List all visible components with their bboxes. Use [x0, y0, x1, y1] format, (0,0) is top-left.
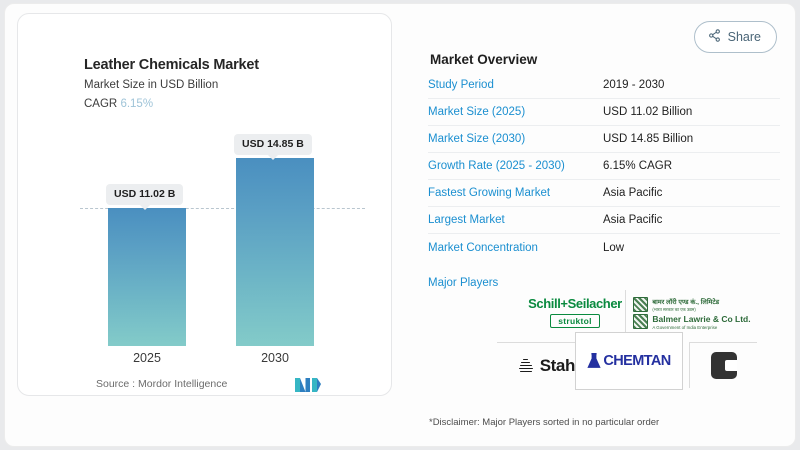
mordor-intelligence-logo — [295, 376, 321, 397]
x-tick-2025: 2025 — [108, 351, 186, 365]
disclaimer-text: *Disclaimer: Major Players sorted in no … — [429, 417, 659, 428]
row-label: Growth Rate (2025 - 2030) — [428, 160, 603, 172]
major-players-label: Major Players — [428, 277, 498, 289]
row-label: Fastest Growing Market — [428, 187, 603, 199]
data-label-2025: USD 11.02 B — [106, 184, 183, 205]
table-row: Market Size (2030) USD 14.85 Billion — [428, 126, 780, 153]
bar-chart-plot: USD 11.02 B USD 14.85 B 2025 2030 — [18, 14, 393, 397]
row-value: Asia Pacific — [603, 187, 662, 199]
bar-2025 — [108, 208, 186, 346]
logo-schill-seilacher: Schill+Seilacher struktol — [519, 290, 631, 334]
row-label: Market Concentration — [428, 242, 603, 254]
c-block-icon — [711, 352, 737, 379]
chemtan-name: CHEMTAN — [603, 353, 670, 369]
major-players-logos: Schill+Seilacher struktol बामर लॉरी एण्ड… — [497, 290, 757, 390]
row-value: USD 14.85 Billion — [603, 133, 693, 145]
bar-2030 — [236, 158, 314, 346]
stahl-name: Stahl — [540, 356, 580, 376]
balmer-hindi-sub: (भारत सरकार का एक उद्यम) — [652, 307, 750, 313]
flask-icon — [587, 353, 601, 369]
table-row: Largest Market Asia Pacific — [428, 207, 780, 234]
logo-chemtan: CHEMTAN — [575, 332, 683, 390]
table-row: Market Concentration Low — [428, 234, 780, 261]
data-label-2030: USD 14.85 B — [234, 134, 312, 155]
balmer-hindi: बामर लॉरी एण्ड कं., लिमिटेड — [652, 297, 750, 306]
table-row: Growth Rate (2025 - 2030) 6.15% CAGR — [428, 153, 780, 180]
table-row: Study Period 2019 - 2030 — [428, 72, 780, 99]
table-row: Fastest Growing Market Asia Pacific — [428, 180, 780, 207]
share-label: Share — [728, 30, 761, 44]
report-page: Leather Chemicals Market Market Size in … — [4, 3, 796, 447]
row-value: Low — [603, 242, 624, 254]
row-label: Study Period — [428, 79, 603, 91]
balmer-sub: A Government of India Enterprise — [652, 325, 750, 330]
row-label: Largest Market — [428, 214, 603, 226]
row-value: Asia Pacific — [603, 214, 662, 226]
share-nodes-icon — [708, 29, 721, 45]
market-overview-table: Study Period 2019 - 2030 Market Size (20… — [428, 72, 780, 261]
table-row: Market Size (2025) USD 11.02 Billion — [428, 99, 780, 126]
logo-balmer-lawrie: बामर लॉरी एण्ड कं., लिमिटेड (भारत सरकार … — [625, 290, 753, 336]
x-tick-2030: 2030 — [236, 351, 314, 365]
source-text: Source : Mordor Intelligence — [96, 378, 227, 390]
row-label: Market Size (2025) — [428, 106, 603, 118]
row-value: USD 11.02 Billion — [603, 106, 692, 118]
chart-card: Leather Chemicals Market Market Size in … — [17, 13, 392, 396]
struktol-badge: struktol — [550, 314, 600, 328]
balmer-name: Balmer Lawrie & Co Ltd. — [652, 314, 750, 324]
row-value: 6.15% CAGR — [603, 160, 672, 172]
logo-unnamed-player — [689, 342, 757, 388]
schill-name: Schill+Seilacher — [528, 296, 622, 311]
row-value: 2019 - 2030 — [603, 79, 664, 91]
market-overview-title: Market Overview — [430, 52, 537, 67]
row-label: Market Size (2030) — [428, 133, 603, 145]
balmer-emblem-icon — [633, 297, 648, 329]
stahl-stripes-icon — [519, 359, 533, 373]
share-button[interactable]: Share — [694, 21, 777, 53]
